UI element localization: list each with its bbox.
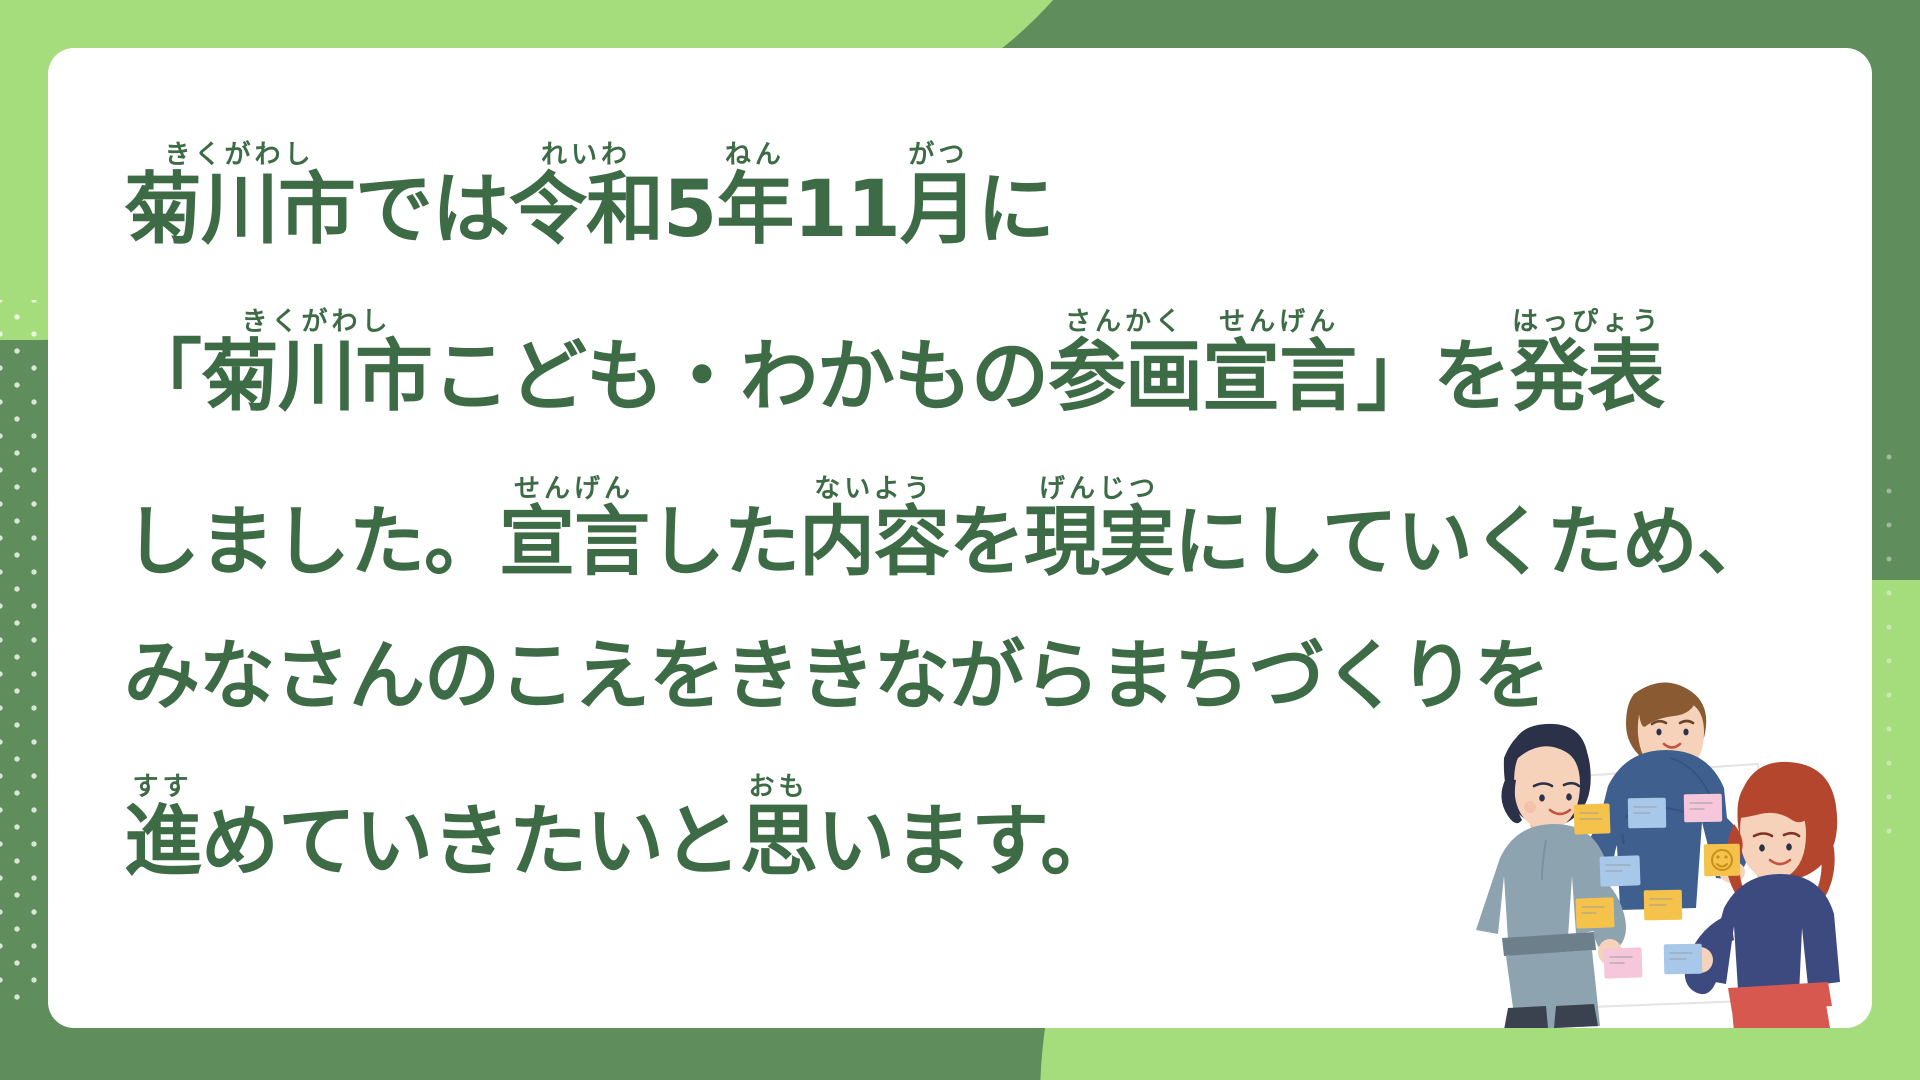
furigana: きくがわし [124,140,355,170]
ruby-segment: 参画さんかく [1048,332,1202,422]
furigana: おも [740,772,817,802]
furigana: がつ [900,140,977,170]
plain-segment: 11 [793,165,900,255]
plain-segment: では [355,165,509,255]
furigana: きくがわし [201,307,432,337]
plain-segment: を [949,497,1024,586]
furigana: はっぴょう [1510,307,1664,337]
plain-segment: 」を [1356,332,1510,422]
ruby-segment: 宣言せんげん [499,497,649,586]
furigana: せんげん [1202,307,1356,337]
plain-segment: 5 [663,165,716,255]
plain-segment: しました。 [124,497,499,586]
poster-stage: 菊川市きくがわしでは令和れいわ5年ねん11月がつに 「菊川市きくがわしこども・わ… [0,0,1920,1080]
ruby-segment: 年ねん [716,165,793,255]
illustration-three-people-sticky-notes [1438,608,1858,1028]
furigana: れいわ [509,140,663,170]
ruby-segment: 思おも [740,797,817,887]
plain-segment: みなさんのこえをききながらまちづくりを [124,631,1549,720]
plain-segment: した [649,497,799,586]
furigana: さんかく [1048,307,1202,337]
ruby-segment: 月がつ [900,165,977,255]
plain-segment: に [977,165,1054,255]
furigana: ねん [716,140,793,170]
furigana: ないよう [799,474,949,504]
ruby-segment: 現実げんじつ [1024,497,1174,586]
furigana: せんげん [499,474,649,504]
furigana: すす [124,772,201,802]
ruby-segment: 発表はっぴょう [1510,332,1664,422]
plain-segment: います。 [817,797,1117,887]
text-line-3: しました。宣言せんげんした内容ないようを現実げんじつにしていくため、 [124,474,1824,580]
text-line-1: 菊川市きくがわしでは令和れいわ5年ねん11月がつに [124,140,1824,249]
text-line-2: 「菊川市きくがわしこども・わかもの参画さんかく宣言せんげん」を発表はっぴょう [124,307,1824,416]
ruby-segment: 進すす [124,797,201,887]
ruby-segment: 内容ないよう [799,497,949,586]
white-content-card: 菊川市きくがわしでは令和れいわ5年ねん11月がつに 「菊川市きくがわしこども・わ… [48,48,1872,1028]
plain-segment: こども・わかもの [432,332,1048,422]
ruby-segment: 菊川市きくがわし [124,165,355,255]
ruby-segment: 菊川市きくがわし [201,332,432,422]
furigana: げんじつ [1024,474,1174,504]
plain-segment: にしていくため、 [1174,497,1772,586]
ruby-segment: 令和れいわ [509,165,663,255]
plain-segment: めていきたいと [201,797,740,887]
ruby-segment: 宣言せんげん [1202,332,1356,422]
plain-segment: 「 [124,332,201,422]
